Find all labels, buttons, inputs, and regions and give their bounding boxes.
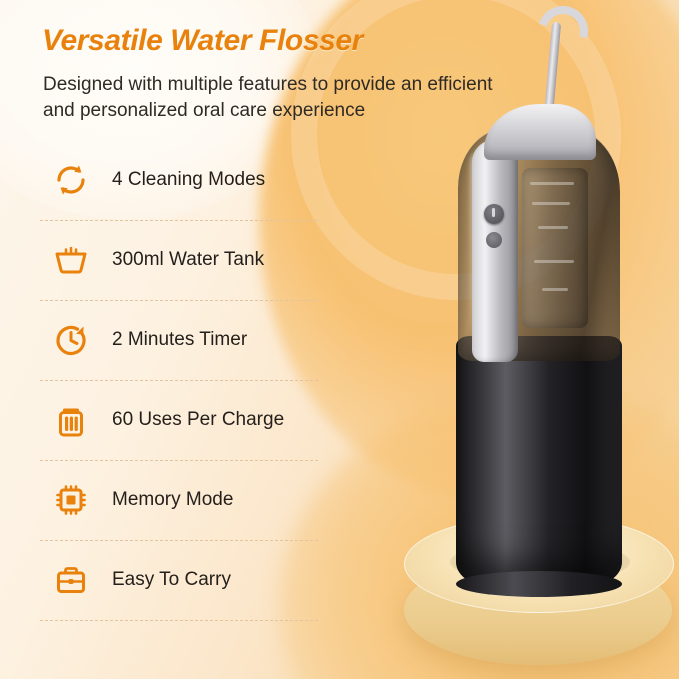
feature-item-timer: 2 Minutes Timer [40,300,330,380]
power-button[interactable] [484,204,504,224]
feature-divider [40,300,318,301]
feature-divider [40,460,318,461]
memory-chip-icon [40,481,102,519]
nozzle-tip [529,0,597,65]
water-tank-icon [40,241,102,279]
feature-item-battery: 60 Uses Per Charge [40,380,330,460]
product-feature-graphic: Versatile Water Flosser Designed with mu… [0,0,679,679]
battery-icon [40,401,102,439]
nozzle-cap [484,104,596,160]
mode-button[interactable] [486,232,502,248]
page-title: Versatile Water Flosser [42,24,363,58]
mech-detail [530,182,574,185]
mech-detail [532,202,570,205]
feature-divider [40,540,318,541]
feature-item-cleaning-modes: 4 Cleaning Modes [40,140,330,220]
feature-divider [40,220,318,221]
feature-item-water-tank: 300ml Water Tank [40,220,330,300]
feature-label: 60 Uses Per Charge [102,409,284,431]
mech-detail [542,288,568,291]
feature-label: Easy To Carry [102,569,231,591]
product-internal-mechanism [522,168,588,328]
feature-list: 4 Cleaning Modes 300ml Water Tank [40,140,330,620]
product-image [398,0,679,679]
timer-clock-icon [40,321,102,359]
briefcase-icon [40,561,102,599]
mech-detail [538,226,568,229]
feature-item-easy-to-carry: Easy To Carry [40,540,330,620]
feature-label: 300ml Water Tank [102,249,264,271]
feature-item-memory-mode: Memory Mode [40,460,330,540]
feature-divider-bottom [40,620,318,621]
product-body [456,336,622,588]
refresh-cycle-icon [40,161,102,199]
control-panel [472,140,518,362]
mech-detail [534,260,574,263]
feature-divider [40,380,318,381]
feature-label: Memory Mode [102,489,233,511]
feature-label: 4 Cleaning Modes [102,169,265,191]
feature-label: 2 Minutes Timer [102,329,247,351]
